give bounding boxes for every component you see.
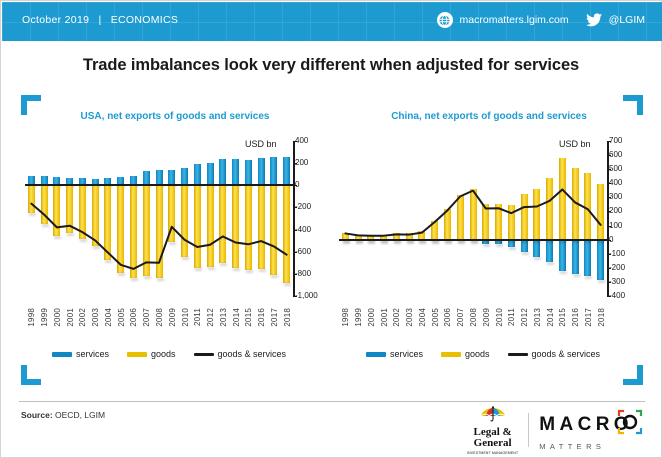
y-tick-label: 300 <box>609 193 622 201</box>
twitter-bird-icon <box>586 13 602 27</box>
x-tick-label: 2006 <box>443 308 452 327</box>
x-tick-label: 2015 <box>558 308 567 327</box>
y-tick-mark <box>607 183 611 184</box>
y-tick-label: 500 <box>609 165 622 173</box>
y-tick-mark <box>293 141 297 142</box>
y-tick-mark <box>293 207 297 208</box>
x-tick-label: 2007 <box>456 308 465 327</box>
x-tick-label: 2012 <box>520 308 529 327</box>
chart-title-china: China, net exports of goods and services <box>333 111 645 122</box>
y-tick-mark <box>607 296 611 297</box>
y-tick-mark <box>607 211 611 212</box>
y-tick-label: 200 <box>609 207 622 215</box>
x-tick-label: 2000 <box>367 308 376 327</box>
legend-label-goods-and-services: goods & services <box>218 349 287 359</box>
plot-area-usa: 4002000-200-400-600-800-1,000USD bn <box>25 141 293 306</box>
legend-label-services: services <box>76 349 109 359</box>
y-tick-mark <box>607 226 611 227</box>
x-tick-label: 2011 <box>193 308 202 326</box>
x-tick-label: 1999 <box>354 308 363 327</box>
x-tick-label: 2007 <box>142 308 151 327</box>
x-tick-label: 2018 <box>597 308 606 327</box>
y-tick-label: -600 <box>295 248 311 256</box>
header-separator: | <box>92 14 107 26</box>
x-tick-label: 2016 <box>571 308 580 327</box>
x-tick-label: 2014 <box>232 308 241 327</box>
x-tick-label: 1998 <box>341 308 350 327</box>
x-tick-label: 2006 <box>129 308 138 327</box>
y-tick-mark <box>607 282 611 283</box>
chart-legend-china: services goods goods & services <box>333 346 633 362</box>
x-tick-label: 1998 <box>27 308 36 327</box>
y-tick-label: -100 <box>609 250 625 258</box>
x-tick-label: 2011 <box>507 308 516 326</box>
x-tick-label: 2017 <box>270 308 279 327</box>
legend-label-goods: goods <box>151 349 176 359</box>
x-tick-label: 2003 <box>91 308 100 327</box>
y-tick-mark <box>607 268 611 269</box>
y-tick-mark <box>607 254 611 255</box>
y-tick-label: -200 <box>609 264 625 272</box>
corner-bracket-bottom-right <box>623 365 643 385</box>
y-tick-mark <box>607 197 611 198</box>
header-category: ECONOMICS <box>111 14 178 26</box>
chart-title-usa: USA, net exports of goods and services <box>19 111 331 122</box>
y-tick-label: -300 <box>609 278 625 286</box>
legend-item-goods: goods <box>441 349 490 359</box>
y-tick-label: -400 <box>609 292 625 300</box>
y-tick-mark <box>293 274 297 275</box>
legend-label-services: services <box>390 349 423 359</box>
x-tick-label: 2014 <box>546 308 555 327</box>
x-tick-label: 2016 <box>257 308 266 327</box>
y-tick-mark <box>607 141 611 142</box>
legend-swatch-services <box>366 352 386 357</box>
y-tick-label: -800 <box>295 270 311 278</box>
plot-inner: 4002000-200-400-600-800-1,000USD bn <box>25 141 293 306</box>
y-tick-mark <box>607 240 611 241</box>
chart-panel-usa: USA, net exports of goods and services 4… <box>19 111 331 361</box>
header-date: October 2019 <box>22 14 89 26</box>
x-tick-label: 2010 <box>181 308 190 327</box>
y-tick-mark <box>293 252 297 253</box>
x-tick-label: 2013 <box>533 308 542 327</box>
macro-matters-logo: MACRO MATTERS <box>539 409 643 451</box>
x-tick-label: 1999 <box>40 308 49 327</box>
x-tick-label: 2008 <box>155 308 164 327</box>
x-tick-label: 2002 <box>78 308 87 327</box>
x-tick-label: 2013 <box>219 308 228 327</box>
legend-swatch-line <box>508 353 528 356</box>
legend-item-services: services <box>52 349 109 359</box>
source-label: Source: <box>21 410 53 420</box>
y-tick-label: -1,000 <box>295 292 318 300</box>
y-tick-mark <box>607 155 611 156</box>
legend-label-goods-and-services: goods & services <box>532 349 601 359</box>
y-tick-mark <box>293 230 297 231</box>
y-tick-label: -400 <box>295 226 311 234</box>
header-meta: October 2019 | ECONOMICS <box>22 14 178 26</box>
legend-label-goods: goods <box>465 349 490 359</box>
y-tick-mark <box>293 296 297 297</box>
x-tick-label: 2004 <box>418 308 427 327</box>
logo-divider <box>528 413 529 447</box>
y-tick-label: 400 <box>609 179 622 187</box>
page-title: Trade imbalances look very different whe… <box>1 56 661 75</box>
legend-item-goods: goods <box>127 349 176 359</box>
legend-swatch-goods <box>441 352 461 357</box>
logo-legal-text: Legal & <box>474 427 512 438</box>
x-tick-label: 2000 <box>53 308 62 327</box>
website-link[interactable]: macromatters.lgim.com <box>460 14 569 26</box>
x-tick-label: 2010 <box>495 308 504 327</box>
x-tick-label: 2005 <box>431 308 440 327</box>
header-bar: October 2019 | ECONOMICS macromatters.lg… <box>2 2 662 41</box>
legend-item-goods-and-services: goods & services <box>508 349 601 359</box>
y-tick-label: 100 <box>609 222 622 230</box>
macro-logo-row: MACRO <box>539 409 643 440</box>
y-tick-mark <box>293 163 297 164</box>
logo-matters-text: MATTERS <box>539 442 605 451</box>
plot-area-china: 7006005004003002001000-100-200-300-400US… <box>339 141 607 306</box>
line-series-goods-services <box>339 141 607 296</box>
x-tick-label: 2008 <box>469 308 478 327</box>
corner-bracket-bottom-left <box>21 365 41 385</box>
x-tick-label: 2005 <box>117 308 126 327</box>
globe-icon <box>437 12 453 28</box>
x-tick-label: 2018 <box>283 308 292 327</box>
y-tick-label: 400 <box>295 137 308 145</box>
legend-swatch-goods <box>127 352 147 357</box>
x-tick-label: 2017 <box>584 308 593 327</box>
footer-logos: Legal & General INVESTMENT MANAGEMENT MA… <box>467 409 643 451</box>
source-text: OECD, LGIM <box>55 410 105 420</box>
x-tick-label: 2012 <box>206 308 215 327</box>
macro-bracket-icon <box>617 409 643 440</box>
legend-swatch-services <box>52 352 72 357</box>
y-tick-label: 700 <box>609 137 622 145</box>
x-tick-label: 2009 <box>168 308 177 327</box>
x-tick-label: 2001 <box>66 308 75 327</box>
source-note: Source: OECD, LGIM <box>21 410 105 420</box>
y-tick-mark <box>293 185 297 186</box>
chart-panel-china: China, net exports of goods and services… <box>333 111 645 361</box>
header-links: macromatters.lgim.com @LGIM <box>437 12 645 28</box>
y-tick-label: 600 <box>609 151 622 159</box>
x-tick-label: 2009 <box>482 308 491 327</box>
legend-swatch-line <box>194 353 214 356</box>
twitter-handle[interactable]: @LGIM <box>609 14 645 26</box>
legal-and-general-logo: Legal & General INVESTMENT MANAGEMENT <box>467 406 518 455</box>
plot-inner: 7006005004003002001000-100-200-300-400US… <box>339 141 607 306</box>
logo-general-text: General <box>474 438 512 449</box>
x-tick-label: 2003 <box>405 308 414 327</box>
slide-page: October 2019 | ECONOMICS macromatters.lg… <box>0 0 662 458</box>
x-tick-label: 2001 <box>380 308 389 327</box>
logo-legal-subtitle: INVESTMENT MANAGEMENT <box>467 451 518 455</box>
footer-divider <box>19 401 645 402</box>
y-tick-label: -200 <box>295 203 311 211</box>
x-tick-label: 2015 <box>244 308 253 327</box>
x-tick-label: 2002 <box>392 308 401 327</box>
line-series-goods-services <box>25 141 293 296</box>
umbrella-icon <box>478 406 508 427</box>
chart-legend-usa: services goods goods & services <box>19 346 319 362</box>
x-tick-label: 2004 <box>104 308 113 327</box>
legend-item-goods-and-services: goods & services <box>194 349 287 359</box>
y-tick-label: 200 <box>295 159 308 167</box>
legend-item-services: services <box>366 349 423 359</box>
y-tick-mark <box>607 169 611 170</box>
